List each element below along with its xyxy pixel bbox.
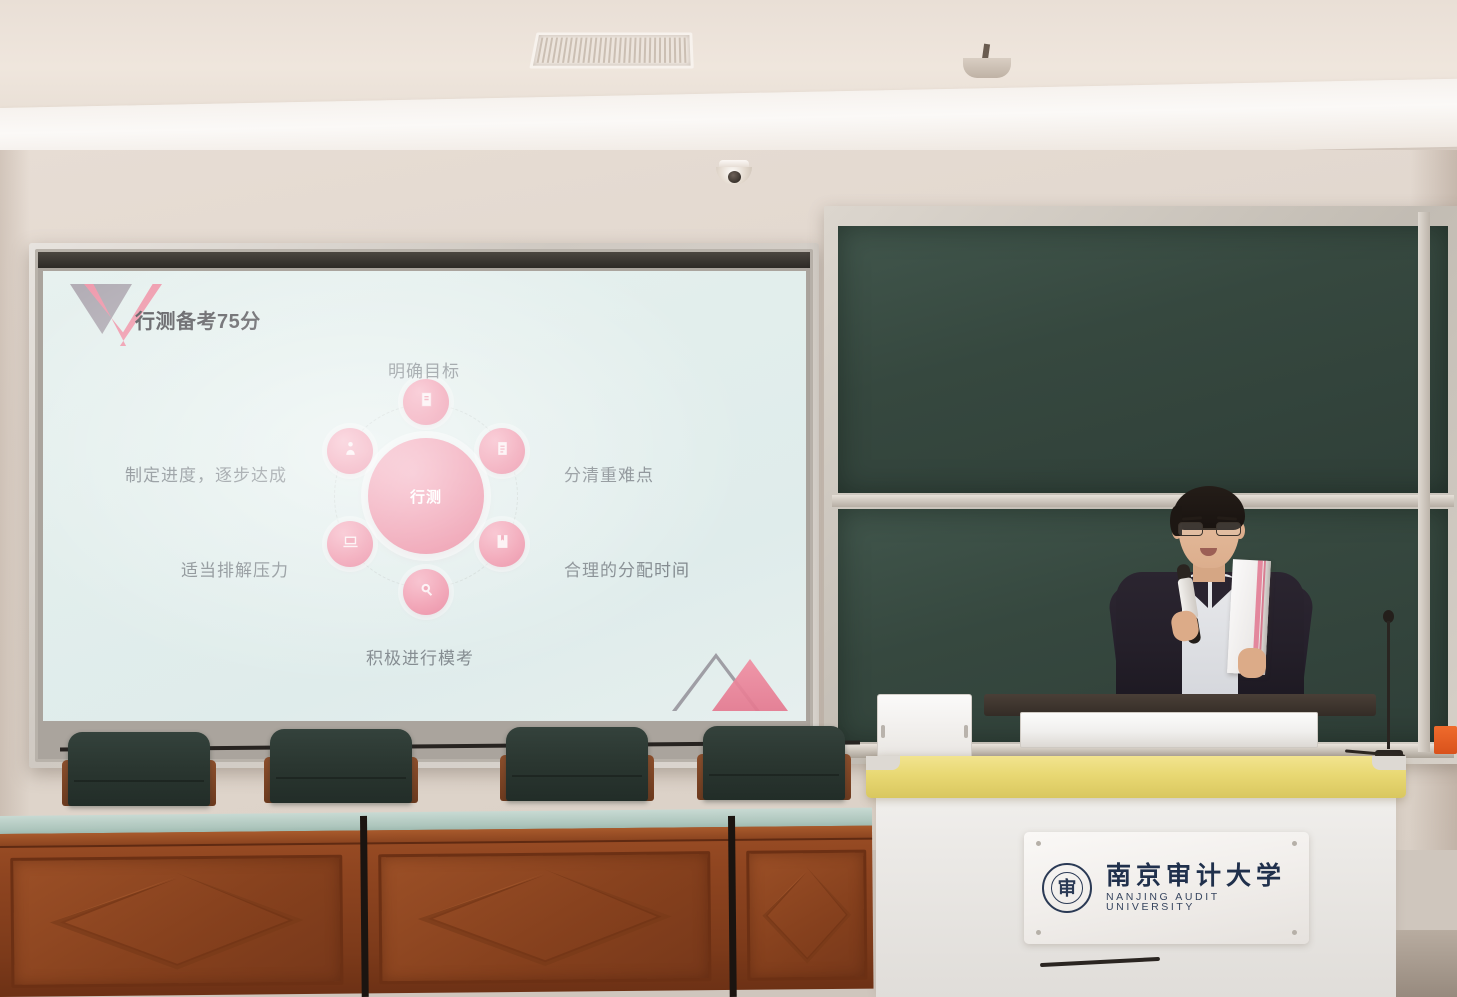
node-laptop-screen bbox=[327, 521, 373, 567]
target-document-icon bbox=[418, 391, 435, 413]
node-search-magnifier bbox=[403, 569, 449, 615]
control-box-slot-right bbox=[964, 725, 968, 738]
node-target-document bbox=[403, 379, 449, 425]
diagram-label-top-left: 制定进度，逐步达成 bbox=[125, 461, 287, 486]
person-flag-icon bbox=[342, 440, 359, 462]
circular-diagram: 行测 bbox=[311, 381, 541, 611]
lectern-notch-left bbox=[866, 756, 900, 770]
hub-label: 行测 bbox=[410, 486, 442, 507]
diamond-inlay bbox=[762, 866, 852, 964]
presenter bbox=[1104, 476, 1316, 700]
diagram-hub: 行测 bbox=[368, 438, 484, 554]
hvac-vent-icon bbox=[529, 33, 694, 69]
desk-panel bbox=[10, 855, 343, 988]
chair-backrest bbox=[270, 729, 412, 803]
glasses-bridge bbox=[1203, 528, 1216, 530]
ceiling-speaker-icon bbox=[963, 58, 1011, 78]
presentation-slide: 行测备考75分 bbox=[43, 271, 806, 721]
node-book-bookmark bbox=[479, 521, 525, 567]
lectern-top-surface bbox=[866, 756, 1406, 798]
glasses-lens-left bbox=[1178, 522, 1203, 536]
camera-lens bbox=[728, 171, 741, 183]
university-name-cn: 南京审计大学 bbox=[1106, 864, 1291, 889]
node-clipboard-list bbox=[479, 428, 525, 474]
university-logo-icon: 审 bbox=[1042, 863, 1092, 913]
glasses-lens-right bbox=[1216, 522, 1241, 536]
orange-box bbox=[1434, 726, 1457, 754]
podium-control-box bbox=[877, 694, 972, 762]
chair-backrest bbox=[703, 726, 845, 800]
conference-chair bbox=[500, 727, 654, 805]
logo-glyph: 审 bbox=[1057, 879, 1076, 898]
vent-slats bbox=[537, 38, 688, 63]
clipboard-list-icon bbox=[494, 440, 511, 462]
eyeglasses-icon bbox=[1178, 522, 1241, 537]
desk-panel bbox=[378, 851, 711, 984]
lectern-notch-right bbox=[1372, 756, 1406, 770]
diamond-inlay bbox=[417, 868, 672, 967]
chair-backrest bbox=[506, 727, 648, 801]
plaque-screw bbox=[1292, 841, 1297, 846]
diamond-inlay bbox=[49, 872, 304, 971]
diagram-label-top: 明确目标 bbox=[388, 357, 460, 382]
check-gray-wedge bbox=[70, 284, 132, 334]
wall-left-shading bbox=[0, 150, 30, 850]
mountain-triangle-decoration-icon bbox=[668, 649, 788, 711]
gooseneck-microphone-icon bbox=[1381, 610, 1395, 758]
plaque-screw bbox=[1292, 930, 1297, 935]
control-box-slot-left bbox=[881, 725, 885, 738]
diagram-label-top-right: 分清重难点 bbox=[564, 461, 654, 486]
diagram-label-bottom-left: 适当排解压力 bbox=[181, 556, 289, 581]
node-person-flag bbox=[327, 428, 373, 474]
lecture-hall-photo: 行测备考75分 bbox=[0, 0, 1457, 997]
diagram-label-bottom-right: 合理的分配时间 bbox=[564, 556, 690, 581]
slide-title: 行测备考75分 bbox=[135, 305, 261, 334]
plaque-screw bbox=[1036, 841, 1041, 846]
university-plaque: 审 南京审计大学 NANJING AUDIT UNIVERSITY bbox=[1024, 832, 1309, 944]
security-camera-icon bbox=[716, 160, 752, 182]
chair-backrest bbox=[68, 732, 210, 806]
university-name-en: NANJING AUDIT UNIVERSITY bbox=[1106, 892, 1291, 913]
conference-chair bbox=[697, 726, 851, 804]
conference-chair bbox=[264, 729, 418, 807]
conference-chair bbox=[62, 732, 216, 810]
laptop-screen-icon bbox=[342, 533, 359, 555]
plaque-screw bbox=[1036, 930, 1041, 935]
screen-roller-strip bbox=[38, 252, 810, 268]
plaque-text-block: 南京审计大学 NANJING AUDIT UNIVERSITY bbox=[1106, 864, 1291, 913]
wooden-front-desk bbox=[0, 826, 874, 997]
diagram-label-bottom: 积极进行模考 bbox=[366, 644, 474, 669]
chalkboard-slide-track bbox=[1418, 212, 1430, 752]
presenter-hand-holding-book bbox=[1238, 648, 1266, 678]
book-bookmark-icon bbox=[494, 533, 511, 555]
gooseneck-mic-stem bbox=[1387, 621, 1390, 749]
floor bbox=[1396, 930, 1457, 997]
chalkboard-panel-top bbox=[838, 226, 1448, 493]
search-magnifier-icon bbox=[418, 581, 435, 603]
podium-monitor bbox=[1020, 712, 1318, 748]
desk-panel bbox=[746, 850, 867, 981]
